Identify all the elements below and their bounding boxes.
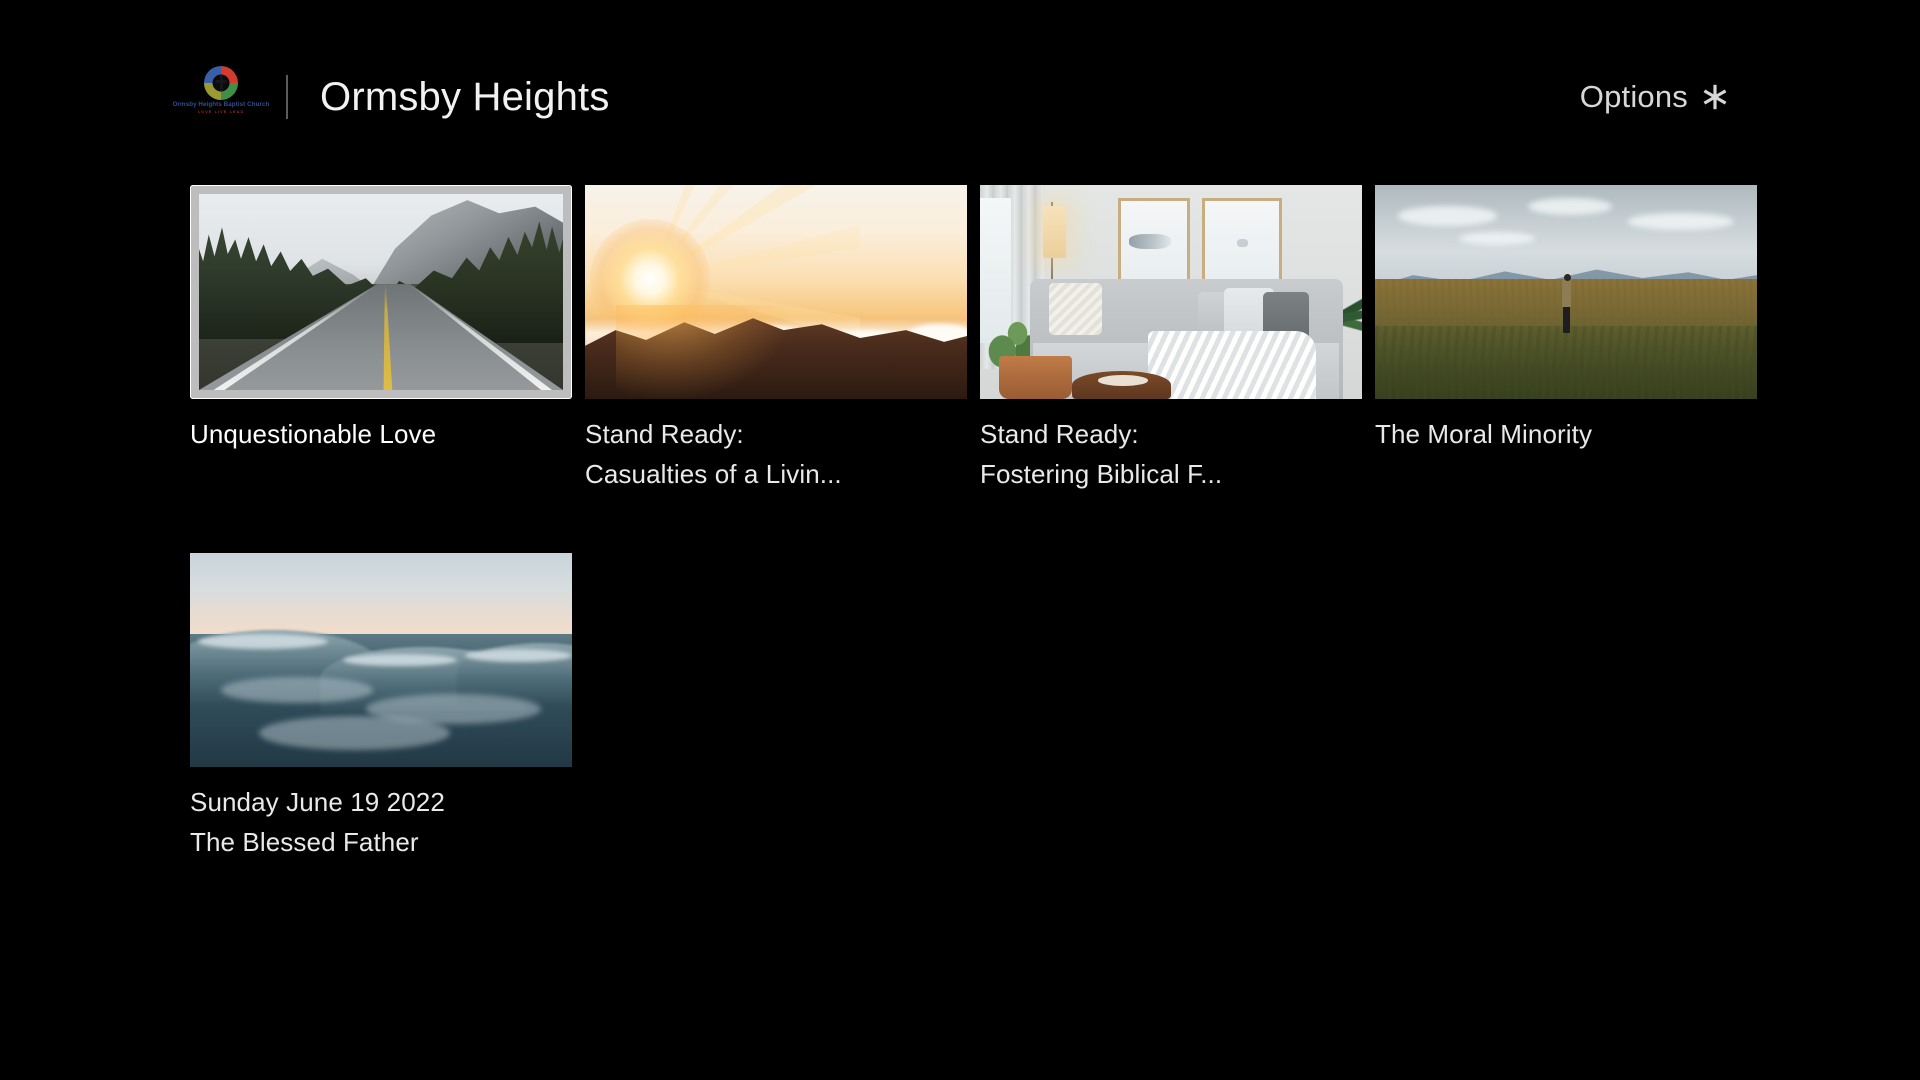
grid-item-title: Stand Ready: Casualties of a Livin... — [585, 415, 842, 494]
grid-item-title: Stand Ready: Fostering Biblical F... — [980, 415, 1222, 494]
grid-item-stand-ready-fostering[interactable]: Stand Ready: Fostering Biblical F... — [980, 185, 1375, 494]
artwork-ocean-waves — [190, 553, 572, 767]
grid-item-stand-ready-casualties[interactable]: Stand Ready: Casualties of a Livin... — [585, 185, 980, 494]
grid-item-title: The Moral Minority — [1375, 415, 1592, 455]
logo-church-name: Ormsby Heights Baptist Church — [173, 102, 270, 109]
options-label: Options — [1580, 79, 1688, 115]
thumbnail-ocean-waves — [190, 553, 572, 767]
header-left-group: Ormsby Heights Baptist Church LOVE LIVE … — [190, 62, 610, 132]
grid-item-title: Sunday June 19 2022 The Blessed Father — [190, 783, 445, 862]
artwork-mountain-road — [199, 194, 563, 390]
grid-item-title: Unquestionable Love — [190, 415, 436, 455]
thumbnail-mountain-road — [199, 194, 563, 390]
thumbnail-container[interactable] — [585, 185, 967, 399]
tv-app-screen: Ormsby Heights Baptist Church LOVE LIVE … — [0, 0, 1920, 1080]
artwork-hilltop-walker — [1375, 185, 1757, 399]
grid-row: Sunday June 19 2022 The Blessed Father — [190, 553, 1810, 862]
header-divider — [286, 75, 288, 119]
thumbnail-container[interactable] — [190, 553, 572, 767]
grid-item-the-moral-minority[interactable]: The Moral Minority — [1375, 185, 1770, 494]
thumbnail-hilltop-walker — [1375, 185, 1757, 399]
logo-text-block: Ormsby Heights Baptist Church LOVE LIVE … — [173, 102, 270, 113]
thumbnail-sunrise-clouds — [585, 185, 967, 399]
artwork-living-room — [980, 185, 1362, 399]
church-circle-cross-logo-icon — [204, 66, 238, 100]
page-title: Ormsby Heights — [320, 77, 610, 117]
app-header: Ormsby Heights Baptist Church LOVE LIVE … — [190, 62, 1730, 132]
asterisk-icon — [1700, 82, 1730, 112]
grid-item-sunday-june-19-2022[interactable]: Sunday June 19 2022 The Blessed Father — [190, 553, 585, 862]
media-grid: Unquestionable Love — [190, 185, 1810, 862]
church-logo: Ormsby Heights Baptist Church LOVE LIVE … — [190, 64, 252, 130]
cross-icon — [216, 75, 227, 91]
grid-row: Unquestionable Love — [190, 185, 1810, 494]
thumbnail-container[interactable] — [980, 185, 1362, 399]
grid-item-unquestionable-love[interactable]: Unquestionable Love — [190, 185, 585, 494]
artwork-sunrise-clouds — [585, 185, 967, 399]
thumbnail-selection-frame[interactable] — [190, 185, 572, 399]
thumbnail-living-room — [980, 185, 1362, 399]
options-button[interactable]: Options — [1580, 79, 1730, 115]
thumbnail-container[interactable] — [1375, 185, 1757, 399]
logo-tagline: LOVE LIVE LEAD — [173, 110, 270, 114]
